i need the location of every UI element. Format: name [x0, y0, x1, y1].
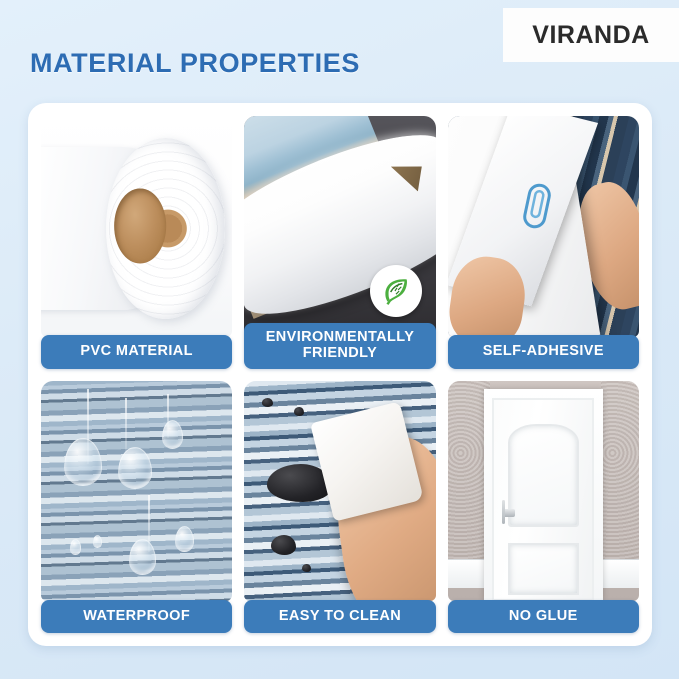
feature-label-text: EASY TO CLEAN [248, 608, 431, 624]
feature-label-waterproof: WATERPROOF [41, 600, 232, 633]
waterproof-image [41, 381, 232, 602]
feature-label-environmentally-friendly: ENVIRONMENTALLY FRIENDLY [244, 323, 435, 369]
feature-card-no-glue[interactable]: NO GLUE [448, 381, 639, 634]
no-glue-image [448, 381, 639, 602]
feature-label-text: NO GLUE [452, 608, 635, 624]
page-title: MATERIAL PROPERTIES [30, 48, 360, 79]
self-adhesive-image [448, 116, 639, 337]
feature-label-text: SELF-ADHESIVE [452, 343, 635, 359]
feature-label-text: WATERPROOF [45, 608, 228, 624]
feature-label-pvc-material: PVC MATERIAL [41, 335, 232, 368]
door-handle-icon [502, 509, 515, 517]
feature-card-self-adhesive[interactable]: SELF-ADHESIVE [448, 116, 639, 369]
easy-to-clean-image [244, 381, 435, 602]
brand-name: VIRANDA [532, 21, 649, 50]
feature-grid: PVC MATERIAL [41, 116, 639, 633]
feature-card-pvc-material[interactable]: PVC MATERIAL [41, 116, 232, 369]
feature-label-text-line1: ENVIRONMENTALLY [266, 329, 415, 345]
pvc-roll-image [41, 116, 232, 337]
feature-label-self-adhesive: SELF-ADHESIVE [448, 335, 639, 368]
brand-logo: VIRANDA [503, 8, 679, 62]
feature-label-easy-to-clean: EASY TO CLEAN [244, 600, 435, 633]
leaf-icon [370, 265, 422, 317]
feature-label-text-line2: FRIENDLY [266, 345, 415, 361]
eco-roll-image [244, 116, 435, 337]
feature-card-waterproof[interactable]: WATERPROOF [41, 381, 232, 634]
feature-label-no-glue: NO GLUE [448, 600, 639, 633]
feature-label-text: PVC MATERIAL [45, 343, 228, 359]
feature-panel: PVC MATERIAL [28, 103, 652, 646]
feature-card-easy-to-clean[interactable]: EASY TO CLEAN [244, 381, 435, 634]
feature-card-environmentally-friendly[interactable]: ENVIRONMENTALLY FRIENDLY [244, 116, 435, 369]
page-header: MATERIAL PROPERTIES VIRANDA [0, 0, 679, 103]
